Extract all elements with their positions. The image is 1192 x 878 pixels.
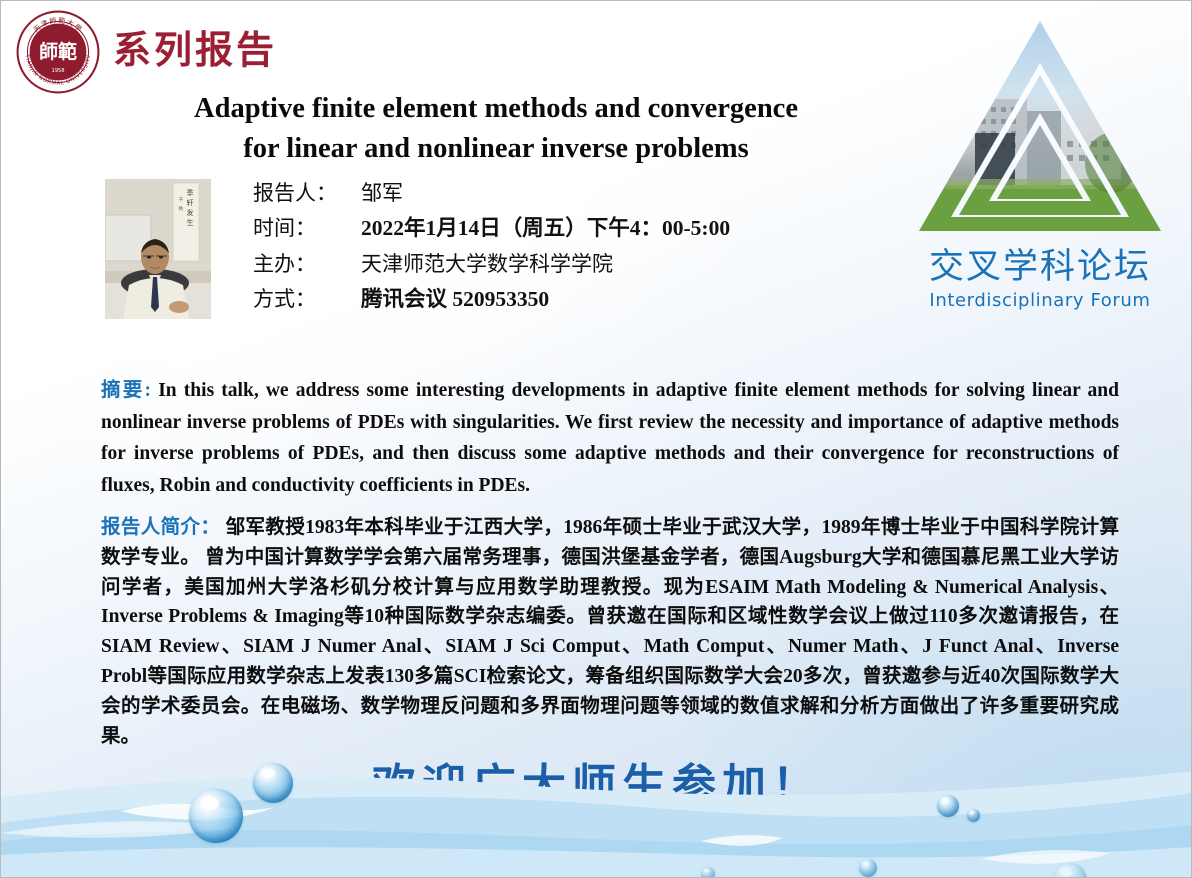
- seminar-poster: 師範 1958 天津師範大學 TIANJIN NORMAL UNIVERSITY…: [0, 0, 1192, 878]
- speaker-bio-section: 报告人简介： 邹军教授1983年本科毕业于江西大学，1986年硕士毕业于武汉大学…: [101, 513, 1119, 752]
- info-value-speaker: 邹军: [361, 183, 403, 204]
- page-title: Adaptive finite element methods and conv…: [101, 89, 891, 170]
- info-label-speaker: 报告人：: [253, 183, 361, 204]
- title-line-1: Adaptive finite element methods and conv…: [101, 89, 891, 129]
- bubble-icon: [1053, 863, 1087, 877]
- info-value-time: 2022年1月14日（周五）下午4：00-5:00: [361, 218, 730, 240]
- info-label-organizer: 主办：: [253, 254, 361, 275]
- svg-text:生: 生: [187, 218, 194, 227]
- abstract-text: In this talk, we address some interestin…: [101, 380, 1119, 496]
- interdisciplinary-forum-logo: 交叉学科论坛 Interdisciplinary Forum: [905, 13, 1175, 311]
- bio-keyword: 报告人简介：: [101, 517, 220, 538]
- series-label: 系列报告: [113, 19, 277, 74]
- poster-header: 師範 1958 天津師範大學 TIANJIN NORMAL UNIVERSITY…: [1, 1, 1192, 353]
- triangle-logo-icon: [915, 13, 1165, 245]
- abstract-keyword: 摘要:: [101, 380, 151, 401]
- svg-text:1958: 1958: [51, 68, 64, 74]
- bubble-icon: [859, 859, 877, 877]
- speaker-photo: 季轩 发生 千秋: [105, 179, 211, 319]
- info-row-time: 时间： 2022年1月14日（周五）下午4：00-5:00: [253, 218, 893, 240]
- svg-text:秋: 秋: [179, 205, 184, 212]
- forum-name-en: Interdisciplinary Forum: [905, 290, 1175, 311]
- speaker-portrait-image: 季轩 发生 千秋: [105, 179, 211, 319]
- bio-text: 邹军教授1983年本科毕业于江西大学，1986年硕士毕业于武汉大学，1989年博…: [101, 517, 1119, 747]
- info-value-platform: 腾讯会议 520953350: [361, 289, 549, 311]
- info-label-platform: 方式：: [253, 289, 361, 310]
- svg-text:发: 发: [187, 208, 194, 217]
- info-label-time: 时间：: [253, 218, 361, 239]
- title-line-2: for linear and nonlinear inverse problem…: [101, 129, 891, 169]
- info-row-organizer: 主办： 天津师范大学数学科学学院: [253, 254, 893, 275]
- welcome-message: 欢迎广大师生参加！: [1, 749, 1192, 813]
- svg-text:轩: 轩: [187, 198, 194, 207]
- info-value-organizer: 天津师范大学数学科学学院: [361, 254, 613, 275]
- info-row-speaker: 报告人： 邹军: [253, 183, 893, 204]
- svg-text:千: 千: [179, 196, 184, 203]
- bubble-icon: [701, 867, 715, 877]
- svg-text:師範: 師範: [39, 40, 77, 63]
- info-row-platform: 方式： 腾讯会议 520953350: [253, 289, 893, 311]
- svg-text:季: 季: [187, 188, 194, 197]
- university-seal-icon: 師範 1958 天津師範大學 TIANJIN NORMAL UNIVERSITY: [15, 9, 101, 95]
- abstract-section: 摘要: In this talk, we address some intere…: [101, 375, 1119, 501]
- forum-name-cn: 交叉学科论坛: [905, 249, 1175, 286]
- talk-info-block: 报告人： 邹军 时间： 2022年1月14日（周五）下午4：00-5:00 主办…: [253, 183, 893, 324]
